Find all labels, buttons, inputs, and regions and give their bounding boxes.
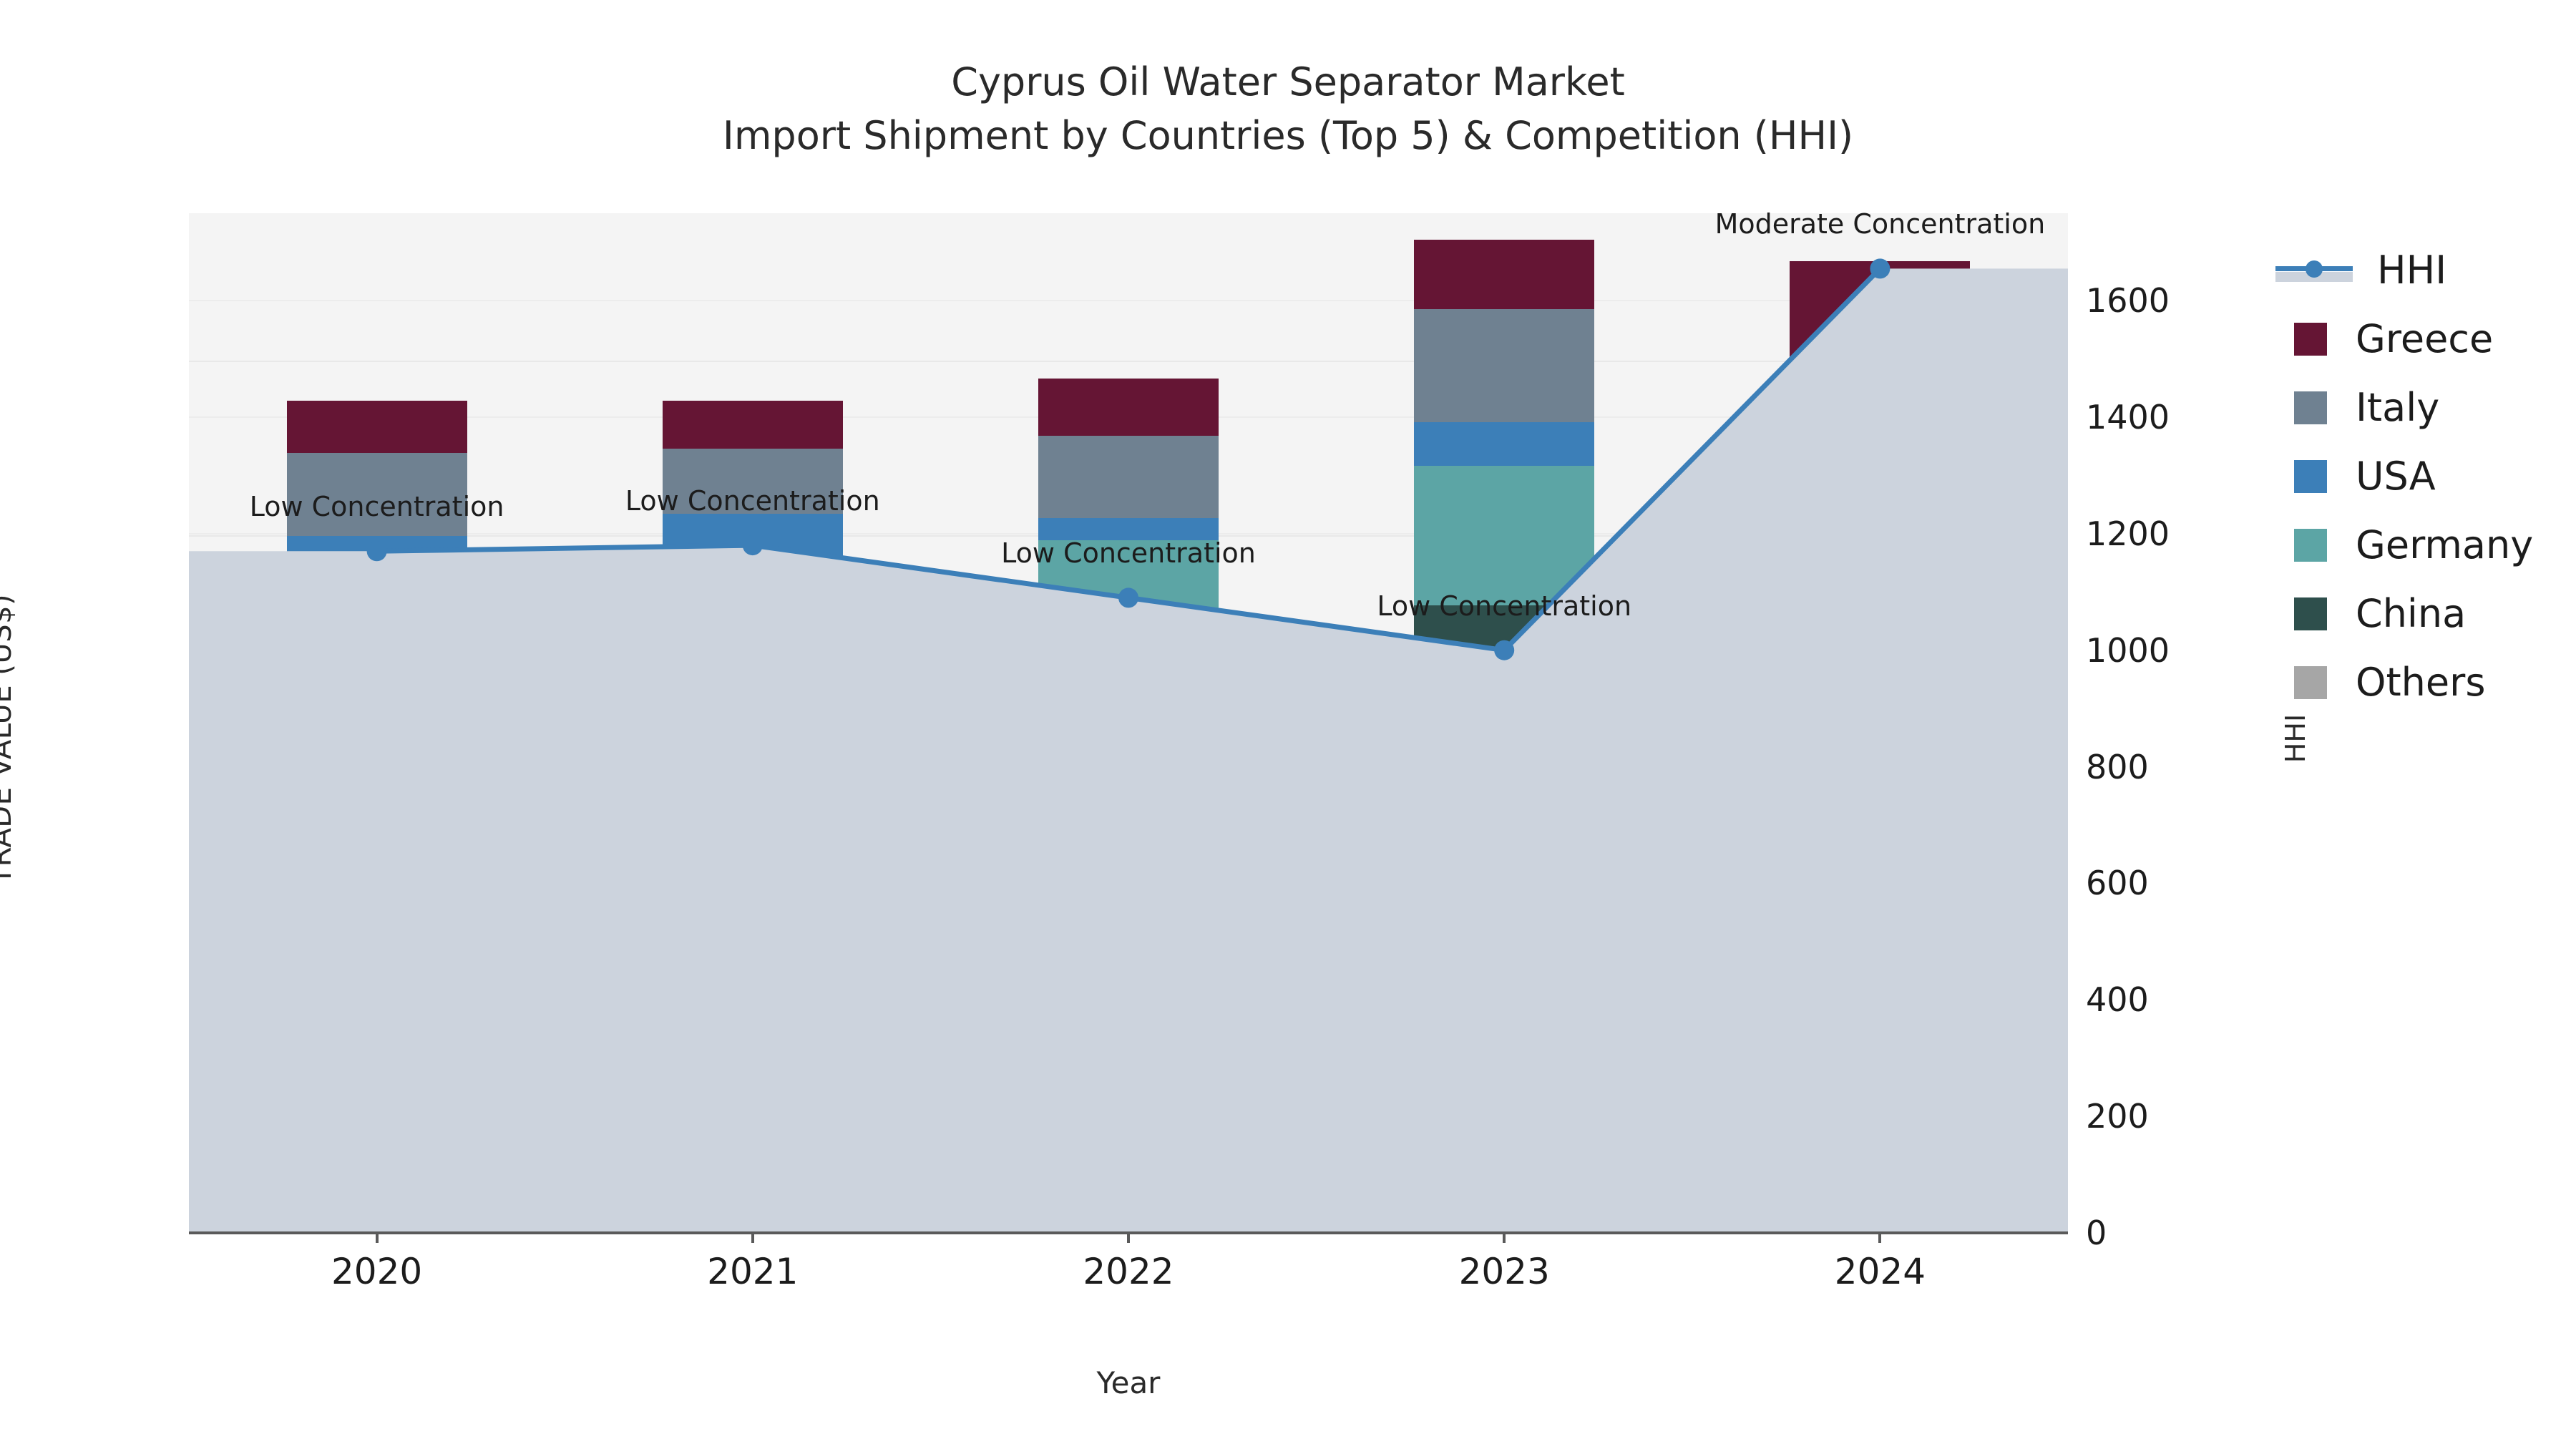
x-axis-tick-label: 2022 [985,1251,1272,1292]
bar-segment-greece[interactable] [663,401,843,449]
legend-item-italy[interactable]: Italy [2275,374,2576,442]
bar-segment-usa[interactable] [1038,518,1219,540]
y-axis-right-tick-label: 1600 [2086,281,2301,320]
legend-item-label: HHI [2377,251,2446,290]
chart-title: Cyprus Oil Water Separator Market Import… [0,56,2576,162]
bar-stack[interactable] [1038,379,1219,1233]
x-axis-tick-label: 2020 [234,1251,520,1292]
y-axis-right-tick-label: 800 [2086,748,2301,786]
bar-segment-usa[interactable] [1414,422,1594,466]
chart-title-line-1: Cyprus Oil Water Separator Market [0,56,2576,109]
bar-segment-others[interactable] [1038,810,1219,1233]
x-axis-label: Year [189,1365,2068,1400]
legend-line-icon [2275,254,2353,287]
bar-stack[interactable] [663,401,843,1233]
chart-figure: Cyprus Oil Water Separator Market Import… [0,0,2576,1449]
legend-item-germany[interactable]: Germany [2275,511,2576,580]
x-axis-tick-mark [376,1233,379,1243]
bar-segment-usa[interactable] [1790,431,1970,519]
legend-item-others[interactable]: Others [2275,648,2576,717]
y-axis-right-tick-label: 600 [2086,864,2301,902]
bar-stack[interactable] [287,401,467,1233]
bar-segment-greece[interactable] [1790,261,1970,374]
legend-item-china[interactable]: China [2275,580,2576,648]
legend-swatch-icon [2294,391,2327,424]
legend-item-hhi[interactable]: HHI [2275,236,2576,305]
legend-line-dot [2306,260,2323,278]
bar-segment-usa[interactable] [287,536,467,696]
y-axis-right-tick-label: 1200 [2086,514,2301,553]
plot-area: Low ConcentrationLow ConcentrationLow Co… [189,213,2068,1233]
bar-segment-china[interactable] [1790,597,1970,941]
x-axis-tick-mark [1878,1233,1881,1243]
legend-swatch-icon [2294,529,2327,562]
x-axis-tick-label: 2021 [610,1251,896,1292]
gridline [189,300,2068,301]
bar-segment-usa[interactable] [663,514,843,570]
legend-item-label: China [2356,595,2466,633]
bar-segment-others[interactable] [1790,941,1970,1233]
bar-segment-others[interactable] [287,976,467,1233]
bar-stack[interactable] [1790,261,1970,1233]
bar-segment-others[interactable] [663,814,843,1233]
bar-segment-germany[interactable] [663,570,843,618]
y-axis-right-tick-label: 0 [2086,1214,2301,1252]
hhi-annotation: Low Concentration [625,485,880,517]
bar-segment-germany[interactable] [1790,518,1970,597]
bar-segment-greece[interactable] [1038,379,1219,435]
bar-segment-china[interactable] [287,826,467,975]
hhi-annotation: Low Concentration [250,491,504,522]
chart-title-line-2: Import Shipment by Countries (Top 5) & C… [0,109,2576,163]
bar-segment-greece[interactable] [1414,240,1594,309]
x-axis-tick-label: 2024 [1737,1251,2023,1292]
x-axis-tick-mark [751,1233,754,1243]
hhi-annotation: Low Concentration [1377,590,1631,622]
bar-segment-italy[interactable] [1414,309,1594,422]
legend-item-usa[interactable]: USA [2275,442,2576,511]
bar-segment-italy[interactable] [1038,436,1219,519]
bar-segment-others[interactable] [1414,828,1594,1233]
legend-item-label: USA [2356,457,2436,496]
legend-swatch-icon [2294,323,2327,356]
legend-item-label: Germany [2356,526,2533,565]
legend-swatch-icon [2294,597,2327,630]
x-axis-tick-label: 2023 [1361,1251,1647,1292]
y-axis-right-tick-label: 400 [2086,980,2301,1019]
bar-segment-china[interactable] [1414,605,1594,828]
legend-item-label: Others [2356,663,2485,702]
y-axis-left-label: TRADE VALUE (US$) [0,310,18,1169]
bar-segment-china[interactable] [1038,614,1219,810]
legend-swatch-icon [2294,460,2327,493]
y-axis-right-tick-label: 1400 [2086,398,2301,436]
bar-segment-china[interactable] [663,618,843,814]
bar-segment-germany[interactable] [1414,466,1594,605]
y-axis-right-tick-label: 1000 [2086,631,2301,670]
bar-stack[interactable] [1414,240,1594,1233]
legend-item-label: Italy [2356,389,2439,427]
gridline-major [189,361,2068,362]
hhi-annotation: Moderate Concentration [1715,208,2046,240]
bar-segment-italy[interactable] [1790,374,1970,431]
legend: HHIGreeceItalyUSAGermanyChinaOthers [2275,236,2576,717]
x-axis-tick-mark [1127,1233,1130,1243]
legend-item-greece[interactable]: Greece [2275,305,2576,374]
legend-item-label: Greece [2356,320,2493,358]
bar-segment-germany[interactable] [287,696,467,826]
legend-swatch-icon [2294,666,2327,699]
x-axis-tick-mark [1503,1233,1506,1243]
hhi-annotation: Low Concentration [1001,537,1256,569]
bar-segment-greece[interactable] [287,401,467,453]
y-axis-right-tick-label: 200 [2086,1097,2301,1136]
